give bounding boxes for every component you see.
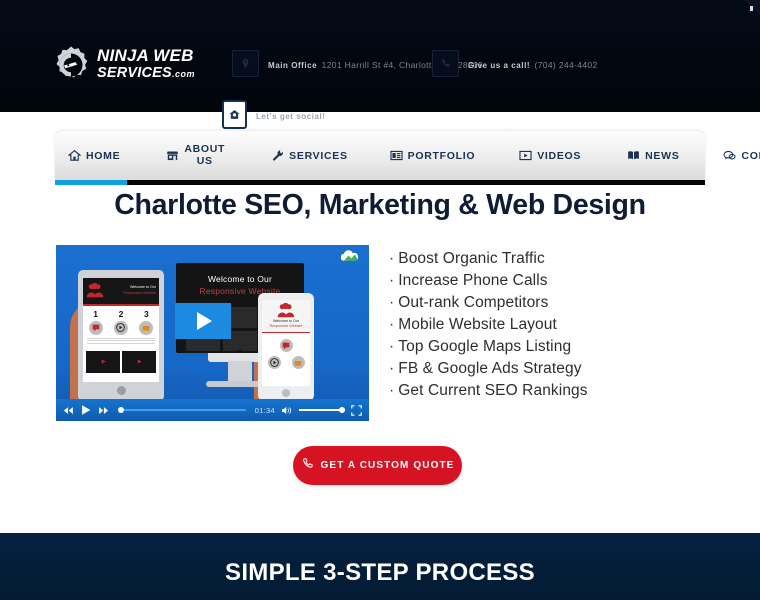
phone-icon-cta [301,457,314,475]
list-item: ·Top Google Maps Listing [389,336,719,358]
cta-label: GET A CUSTOM QUOTE [321,460,455,471]
social-title: Let's get social! [256,112,326,121]
nav-item-services[interactable]: SERVICES [271,149,348,162]
tablet-step-1: 1 [93,309,98,319]
header-contact-social[interactable]: Let's get social! [222,100,326,129]
logo-dotcom: .com [172,69,195,79]
list-item: ·Increase Phone Calls [389,270,719,292]
nav-label-contact: CONTACT [741,150,760,162]
nav-label-about-us: ABOUT US [184,144,225,167]
page-title: Charlotte SEO, Marketing & Web Design [0,189,760,222]
tablet-subtitle: Responsive Website [123,291,156,295]
wistia-cloud-icon[interactable] [341,250,361,264]
header-contact-phone[interactable]: Give us a call! (704) 244-4402 [432,50,598,77]
progress-track [118,409,246,411]
people-icon [86,283,104,298]
phone-play-icon [268,356,281,369]
tablet-video-thumb-1 [86,351,120,373]
nav-label-home: HOME [86,150,120,162]
nav-item-about-us[interactable]: ABOUT US [166,144,225,167]
phone-hero: Welcome to Our Responsive Website [262,300,310,332]
monitor-title: Welcome to Our [176,274,304,284]
nav-label-news: NEWS [645,150,679,162]
play-icon-small [114,321,128,335]
tablet-title: Welcome to Our [130,285,156,289]
home-social-icon [222,100,247,129]
nav-label-services: SERVICES [289,150,348,162]
hero-video-player[interactable]: Welcome to Our Responsive Website Welcom… [56,245,369,421]
process-section-title: SIMPLE 3-STEP PROCESS [0,559,760,587]
bullet-text: Mobile Website Layout [398,316,557,333]
benefits-list: ·Boost Organic Traffic ·Increase Phone C… [389,248,719,402]
nav-label-about-top: ABOUT [184,144,225,155]
bullet-marker: · [389,250,394,267]
list-item: ·FB & Google Ads Strategy [389,358,719,380]
tablet-video-thumb-2 [122,351,156,373]
tablet-illustration: Welcome to Our Responsive Website 1 2 3 [78,270,164,401]
tablet-step-icons [83,319,159,335]
tablet-step-3: 3 [144,309,149,319]
nav-label-portfolio: PORTFOLIO [408,150,476,162]
phone-icon [432,50,459,77]
list-item: ·Out-rank Competitors [389,292,719,314]
bullet-text: Out-rank Competitors [398,294,548,311]
volume-icon[interactable] [281,405,293,416]
bullet-marker: · [389,316,394,333]
nav-label-about-bottom: US [197,156,213,167]
progress-knob[interactable] [118,407,124,413]
list-item: ·Get Current SEO Rankings [389,380,719,402]
ninja-gear-icon [50,44,92,86]
nav-item-videos[interactable]: VIDEOS [519,149,581,162]
header-top-strip [0,0,760,22]
list-item: ·Mobile Website Layout [389,314,719,336]
video-progress-bar[interactable] [118,405,246,415]
rewind-icon[interactable] [63,406,74,415]
phone-chat-icon [280,339,293,352]
home-icon [68,149,81,162]
video-play-button[interactable] [175,303,231,339]
phone-title: Welcome to Our [262,319,310,323]
phone-home-button [282,389,290,397]
get-custom-quote-button[interactable]: GET A CUSTOM QUOTE [293,446,462,485]
book-icon [627,149,640,162]
logo-line-2: SERVICES.com [97,65,195,81]
phone-illustration: Welcome to Our Responsive Website [258,293,314,401]
play-icon [197,312,212,330]
bullet-marker: · [389,272,394,289]
tablet-hero: Welcome to Our Responsive Website [83,278,159,304]
fullscreen-icon[interactable] [351,405,362,416]
nav-item-contact[interactable]: CONTACT [723,149,760,162]
header-contact-social-text: Let's get social! [256,104,326,126]
chat-icon-small [89,321,103,335]
nav-items: HOME ABOUT US SERVICES [55,131,705,180]
video-controls: 01:34 [56,399,369,421]
logo-wordmark: NINJA WEB SERVICES.com [97,47,200,83]
list-item: ·Boost Organic Traffic [389,248,719,270]
phone-number: (704) 244-4402 [535,60,598,70]
tablet-home-button [117,386,126,395]
tablet-text-lines [83,335,159,349]
store-icon [166,149,179,162]
corner-indicator-dot [750,6,753,11]
office-title: Main Office [268,61,317,70]
site-header: NINJA WEB SERVICES.com Main Office 1201 … [0,0,760,112]
bullet-marker: · [389,338,394,355]
phone-screen: Welcome to Our Responsive Website [262,300,310,386]
process-section: SIMPLE 3-STEP PROCESS [0,533,760,600]
phone-red-divider [262,332,310,333]
nav-label-videos: VIDEOS [537,150,581,162]
wrench-icon [271,149,284,162]
nav-active-indicator [55,180,127,185]
monitor-neck [228,361,252,383]
chat-bubble-icon [723,149,736,162]
play-icon-control[interactable] [80,404,92,416]
primary-navigation: HOME ABOUT US SERVICES [55,131,705,180]
phone-icon-row [262,352,310,369]
logo-line-1: NINJA WEB [97,46,194,65]
volume-knob[interactable] [339,407,345,413]
bullet-marker: · [389,360,394,377]
bullet-text: FB & Google Ads Strategy [398,360,581,377]
people-icon-phone [275,303,297,318]
phone-subtitle: Responsive Website [262,324,310,328]
header-contact-phone-text: Give us a call! (704) 244-4402 [468,53,598,75]
cart-icon-small [139,321,153,335]
fast-forward-icon[interactable] [98,406,109,415]
nav-item-news[interactable]: NEWS [627,149,679,162]
nav-item-home[interactable]: HOME [68,149,120,162]
phone-title: Give us a call! [468,61,530,70]
tablet-screen: Welcome to Our Responsive Website 1 2 3 [83,278,159,382]
bullet-text: Boost Organic Traffic [398,250,545,267]
site-logo[interactable]: NINJA WEB SERVICES.com [50,41,200,89]
bullet-marker: · [389,294,394,311]
video-play-icon [519,149,532,162]
tablet-step-2: 2 [119,309,124,319]
bullet-marker: · [389,382,394,399]
portfolio-icon [390,149,403,162]
nav-item-portfolio[interactable]: PORTFOLIO [390,149,476,162]
bullet-text: Get Current SEO Rankings [398,382,587,399]
video-timestamp: 01:34 [255,406,275,415]
volume-slider[interactable] [299,405,345,415]
tablet-video-thumbs [83,349,159,373]
bullet-text: Increase Phone Calls [398,272,547,289]
location-pin-icon [232,50,259,77]
bullet-text: Top Google Maps Listing [398,338,571,355]
tablet-step-numbers: 1 2 3 [83,306,159,319]
nav-underline [55,180,705,185]
phone-cart-icon [292,356,305,369]
